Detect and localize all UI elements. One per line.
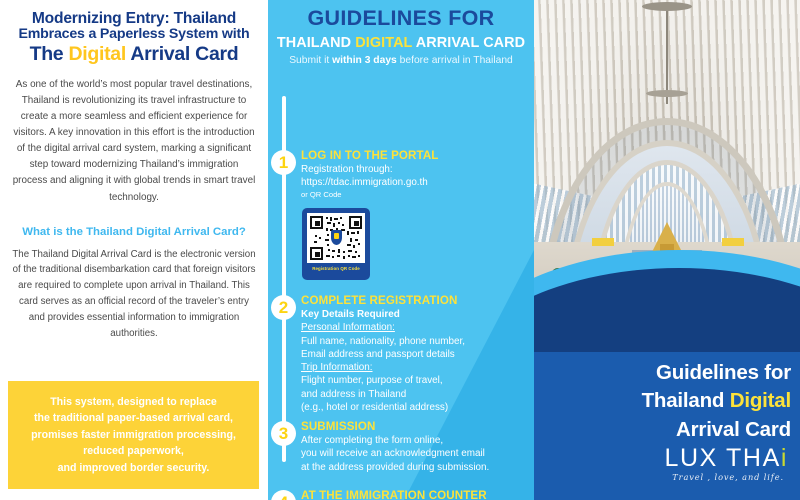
step-title: COMPLETE REGISTRATION [301, 294, 533, 307]
portal-url[interactable]: https://tdac.immigration.go.th [301, 176, 533, 189]
ceiling-luminaire [646, 90, 688, 97]
page-title: Modernizing Entry: Thailand Embraces a P… [9, 10, 259, 66]
qr-finder-icon [310, 216, 323, 229]
step-text-line: Registration through: [301, 163, 533, 176]
footer-title-line-2-prefix: Thailand [642, 389, 730, 412]
step-content: AT THE IMMIGRATION COUNTER Present your … [301, 489, 533, 500]
step-text-line: Key Details Required [301, 308, 533, 321]
step-number-badge: 2 [271, 295, 296, 320]
step-number-badge: 4 [271, 490, 296, 500]
step-text-line: (e.g., hotel or residential address) [301, 401, 533, 414]
guidelines-subtitle: THAILAND DIGITAL ARRIVAL CARD [268, 35, 534, 51]
page-title-line-1: Modernizing Entry: Thailand [9, 10, 259, 27]
thai-emblem-icon [331, 230, 342, 245]
step-text-line: Flight number, purpose of travel, [301, 374, 533, 387]
intro-paragraph: As one of the world’s most popular trave… [11, 77, 257, 205]
qr-code-caption: Registration QR Code [307, 266, 365, 271]
callout-line: and improved border security. [8, 460, 259, 476]
step-subheading: Personal Information: [301, 321, 533, 334]
qr-finder-icon [310, 247, 323, 260]
step-number-badge: 1 [271, 150, 296, 175]
page-title-highlight: Digital [68, 43, 126, 65]
step-number-badge: 3 [271, 421, 296, 446]
logo-wordmark: LUX THAi [665, 444, 789, 473]
section-heading-what-is-tdac: What is the Thailand Digital Arrival Car… [9, 226, 259, 238]
footer-title-line-2: Thailand Digital [534, 387, 791, 415]
step-content: LOG IN TO THE PORTAL Registration throug… [301, 149, 533, 200]
step-text-line: After completing the form online, [301, 434, 533, 447]
guidelines-title: GUIDELINES FOR [268, 6, 534, 31]
page-title-line-3-prefix: The [30, 43, 69, 65]
footer-title-line-1: Guidelines for [534, 359, 791, 387]
deadline-emphasis: within 3 days [332, 55, 397, 66]
page-title-line-2: Embraces a Paperless System with [9, 27, 259, 43]
step-title: LOG IN TO THE PORTAL [301, 149, 533, 162]
qr-finder-icon [349, 216, 362, 229]
footer-title: Guidelines for Thailand Digital Arrival … [534, 359, 800, 444]
deadline-suffix: before arrival in Thailand [397, 55, 513, 66]
page-title-line-3-suffix: Arrival Card [126, 43, 238, 65]
guidelines-subtitle-highlight: DIGITAL [355, 35, 412, 51]
step-text-line: Email address and passport details [301, 348, 533, 361]
guidelines-subtitle-prefix: THAILAND [277, 35, 355, 51]
step-content: SUBMISSION After completing the form onl… [301, 420, 533, 474]
logo-wordmark-a: A [763, 444, 781, 472]
luxthai-logo[interactable]: LUX THAi Travel , love, and life. [534, 444, 800, 482]
page-title-line-3: The Digital Arrival Card [9, 44, 259, 66]
guidelines-subtitle-suffix: ARRIVAL CARD [412, 35, 525, 51]
section-paragraph: The Thailand Digital Arrival Card is the… [12, 247, 256, 342]
callout-line: promises faster immigration processing, [8, 427, 259, 443]
callout-line: the traditional paper-based arrival card… [8, 410, 259, 426]
step-content: COMPLETE REGISTRATION Key Details Requir… [301, 294, 533, 414]
step-title: SUBMISSION [301, 420, 533, 433]
qr-code-image [307, 213, 365, 263]
registration-qr-code[interactable]: Registration QR Code [302, 208, 370, 280]
left-article-panel: Modernizing Entry: Thailand Embraces a P… [0, 0, 268, 500]
guidelines-header: GUIDELINES FOR THAILAND DIGITAL ARRIVAL … [268, 0, 534, 66]
step-title: AT THE IMMIGRATION COUNTER [301, 489, 533, 500]
right-branding-panel: Guidelines for Thailand Digital Arrival … [534, 0, 800, 500]
step-text-line: or QR Code [301, 190, 533, 200]
step-subheading: Trip Information: [301, 361, 533, 374]
guidelines-steps-panel: GUIDELINES FOR THAILAND DIGITAL ARRIVAL … [268, 0, 534, 500]
step-text-line: at the address provided during submissio… [301, 461, 533, 474]
callout-line: This system, designed to replace [8, 394, 259, 410]
logo-tagline: Travel , love, and life. [534, 472, 788, 482]
callout-line: reduced paperwork, [8, 443, 259, 459]
step-text-line: you will receive an acknowledgment email [301, 447, 533, 460]
logo-dot-i: i [781, 444, 788, 472]
wayfinding-sign [722, 238, 744, 246]
footer-title-highlight: Digital [730, 389, 791, 412]
logo-wordmark-main: LUX TH [665, 444, 763, 472]
deadline-prefix: Submit it [289, 55, 332, 66]
ceiling-luminaire [642, 2, 692, 11]
benefits-callout-box: This system, designed to replace the tra… [8, 381, 259, 489]
submission-deadline-note: Submit it within 3 days before arrival i… [268, 55, 534, 66]
step-text-line: Full name, nationality, phone number, [301, 335, 533, 348]
infographic-poster: Modernizing Entry: Thailand Embraces a P… [0, 0, 800, 500]
wayfinding-sign [592, 238, 614, 246]
footer-title-line-3: Arrival Card [534, 416, 791, 444]
step-text-line: and address in Thailand [301, 388, 533, 401]
